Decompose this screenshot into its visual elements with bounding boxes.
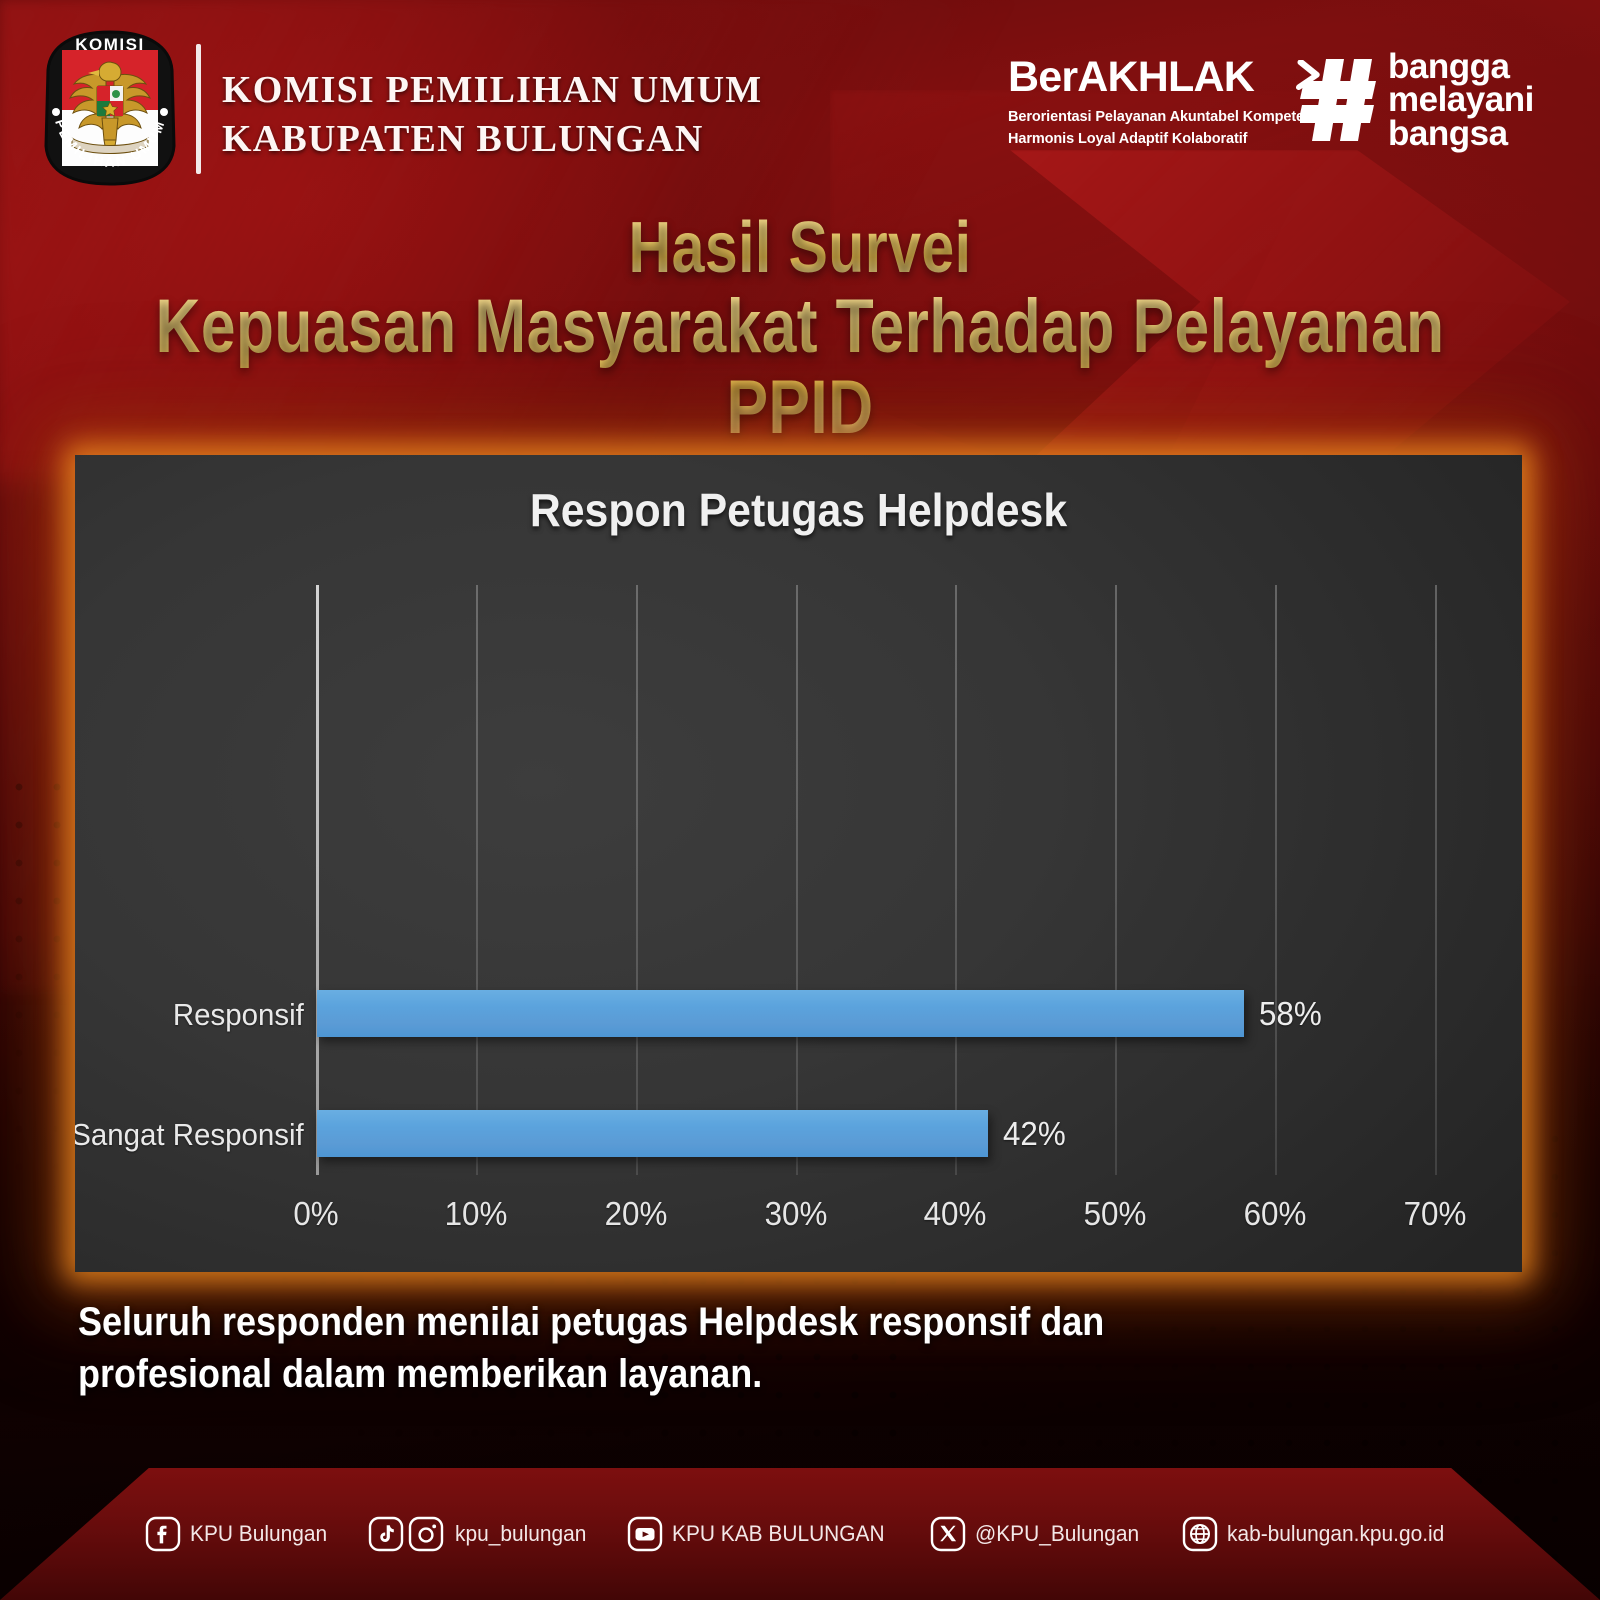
bangga-line-3: bangsa <box>1388 117 1534 150</box>
org-name-line1: KOMISI PEMILIHAN UMUM <box>222 66 762 115</box>
footer-social-label: @KPU_Bulungan <box>975 1521 1139 1547</box>
footer-social-item[interactable]: KPU KAB BULUNGAN <box>627 1516 896 1552</box>
poster-footer: KPU Bulungankpu_bulunganKPU KAB BULUNGAN… <box>0 1468 1600 1600</box>
chart-panel: Respon Petugas Helpdesk Sangat Responsif… <box>75 455 1522 1272</box>
org-name-line2: KABUPATEN BULUNGAN <box>222 115 762 164</box>
bangga-line-1: bangga <box>1388 50 1534 83</box>
bangga-wordmark: bangga melayani bangsa <box>1388 50 1534 150</box>
header-divider <box>196 44 201 174</box>
chart-gridline <box>476 585 478 1175</box>
facebook-icon[interactable] <box>145 1516 181 1552</box>
poster-title: Hasil Survei Kepuasan Masyarakat Terhada… <box>0 212 1600 449</box>
poster-header: KOMISI PEMILIHAN UMUM KOMISI PEMILIHAN U… <box>0 0 1600 200</box>
footer-social-label: kpu_bulungan <box>455 1521 586 1547</box>
chart-bar-value-label: 58% <box>1259 995 1322 1033</box>
chart-gridline <box>636 585 638 1175</box>
chart-bar <box>317 1110 988 1157</box>
chart-x-tick-label: 40% <box>924 1195 987 1233</box>
chart-value-axis <box>316 585 319 1175</box>
berakhlak-logo: BerAKHLAK Berorientasi Pelayanan Akuntab… <box>1008 56 1298 149</box>
berakhlak-tagline-2: Harmonis Loyal Adaptif Kolaboratif <box>1008 129 1298 149</box>
kpu-garuda-emblem-icon: KOMISI PEMILIHAN UMUM <box>36 28 184 188</box>
bangga-melayani-bangsa-logo: bangga melayani bangsa <box>1300 50 1534 150</box>
chart-x-tick-label: 60% <box>1244 1195 1307 1233</box>
chart-x-tick-label: 50% <box>1084 1195 1147 1233</box>
organization-name: KOMISI PEMILIHAN UMUM KABUPATEN BULUNGAN <box>222 66 762 163</box>
berakhlak-wordmark: BerAKHLAK <box>1008 56 1298 99</box>
footer-social-item[interactable]: kab-bulungan.kpu.go.id <box>1182 1516 1456 1552</box>
chart-gridline <box>955 585 957 1175</box>
title-line-1: Hasil Survei <box>144 212 1456 285</box>
hashtag-icon <box>1300 57 1378 143</box>
footer-social-item[interactable]: kpu_bulungan <box>368 1516 593 1552</box>
chart-x-tick-label: 20% <box>604 1195 667 1233</box>
chart-x-tick-label: 10% <box>444 1195 507 1233</box>
chart-x-tick-label: 30% <box>764 1195 827 1233</box>
footer-social-label: KPU KAB BULUNGAN <box>672 1521 885 1547</box>
berakhlak-tagline-1: Berorientasi Pelayanan Akuntabel Kompete… <box>1008 107 1298 127</box>
summary-caption: Seluruh responden menilai petugas Helpde… <box>78 1296 1248 1400</box>
chart-gridline <box>1435 585 1437 1175</box>
footer-social-label: kab-bulungan.kpu.go.id <box>1227 1521 1444 1547</box>
chart-category-label: Responsif <box>173 997 304 1033</box>
globe-website-icon[interactable] <box>1182 1516 1218 1552</box>
footer-social-item[interactable]: @KPU_Bulungan <box>930 1516 1148 1552</box>
chart-gridline <box>1115 585 1117 1175</box>
x-twitter-icon[interactable] <box>930 1516 966 1552</box>
chart-gridline <box>1275 585 1277 1175</box>
footer-social-item[interactable]: KPU Bulungan <box>145 1516 334 1552</box>
footer-social-links: KPU Bulungankpu_bulunganKPU KAB BULUNGAN… <box>0 1468 1600 1600</box>
youtube-icon[interactable] <box>627 1516 663 1552</box>
chart-category-label: Sangat Responsif <box>75 1117 304 1153</box>
chart-plot-area: Sangat Responsif42%Responsif58%0%10%20%3… <box>75 455 1522 1272</box>
chart-gridline <box>796 585 798 1175</box>
logo-ring-top-text: KOMISI <box>75 35 144 54</box>
title-line-2: Kepuasan Masyarakat Terhadap Pelayanan P… <box>144 287 1456 448</box>
chart-bar <box>317 990 1244 1037</box>
tiktok-instagram-icon[interactable] <box>368 1516 446 1552</box>
chart-x-tick-label: 70% <box>1404 1195 1467 1233</box>
bangga-line-2: melayani <box>1388 83 1534 116</box>
chart-x-tick-label: 0% <box>293 1195 338 1233</box>
chart-bar-value-label: 42% <box>1003 1115 1066 1153</box>
footer-social-label: KPU Bulungan <box>190 1521 327 1547</box>
